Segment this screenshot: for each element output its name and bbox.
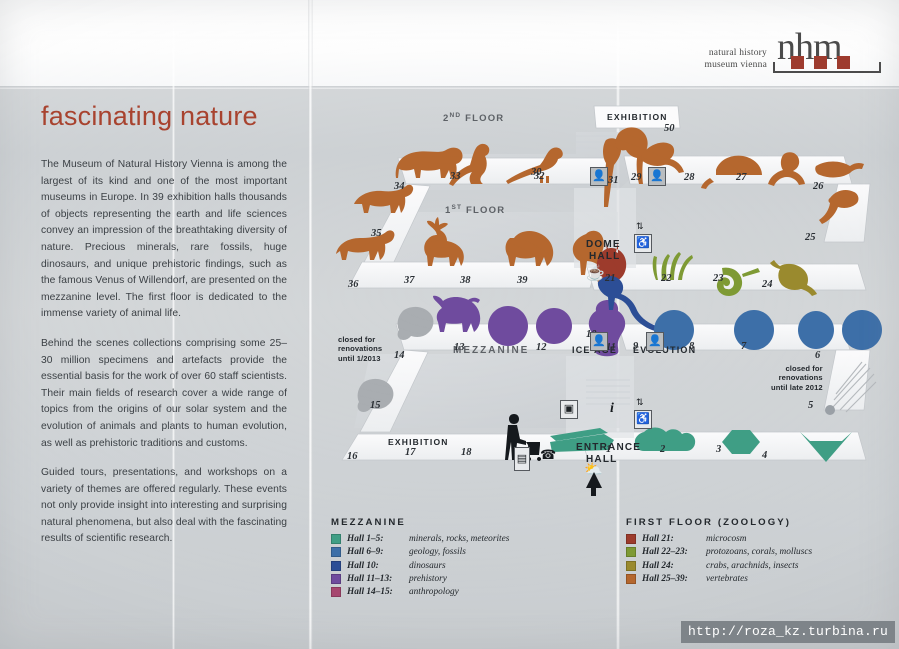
legend-swatch-mezz-3 [331,561,341,571]
hall-number-1: 1 [606,444,611,455]
info-icon[interactable]: i [610,402,614,416]
logo-line-1: natural history [705,48,768,60]
hall-number-32: 32 [534,171,545,182]
hall-number-27: 27 [736,172,747,183]
legend-swatch-ff-4 [626,574,636,584]
globe-icon [842,310,882,350]
legend-mezzanine: MEZZANINE Hall 1–5: minerals, rocks, met… [331,517,509,600]
legend-hall-label: Hall 25–39: [642,574,706,584]
hall-number-12: 12 [536,342,547,353]
legend-first-floor: FIRST FLOOR (ZOOLOGY) Hall 21: microcosm… [626,517,812,587]
legend-row: Hall 14–15: anthropology [331,587,509,597]
logo-square-3 [837,56,850,69]
intro-paragraph-1: The Museum of Natural History Vienna is … [41,157,287,323]
legend-row: Hall 11–13: prehistory [331,574,509,584]
hall-number-29: 29 [631,172,642,183]
wheelchair-icon-mezzanine[interactable]: ♿ [634,410,652,429]
legend-row: Hall 25–39: vertebrates [626,574,812,584]
spiral-disc-2-icon [536,308,572,344]
legend-row: Hall 6–9: geology, fossils [331,547,509,557]
hall-number-2: 2 [660,444,665,455]
hall-number-23: 23 [713,273,724,284]
hall-number-35: 35 [371,228,382,239]
legend-swatch-mezz-2 [331,547,341,557]
label-dome-hall-line1: DOME [586,239,621,250]
label-first-floor: 1ST FLOOR [445,204,505,216]
wheelchair-icon[interactable]: ♿ [634,234,652,253]
wc-women-icon-mezzanine[interactable]: 👤 [646,332,664,351]
label-dome-hall-line2: HALL [589,251,620,262]
legend-row: Hall 21: microcosm [626,534,812,544]
floor-plan-map: 2ND FLOOR 1ST FLOOR DOME HALL MEZZANINE … [318,92,886,502]
nhm-logo: natural history museum vienna nhm [705,30,882,78]
legend-hall-label: Hall 10: [347,561,409,571]
hall-number-33: 33 [450,171,461,182]
logo-mark: nhm [773,30,881,78]
logo-tick-left [773,62,775,73]
hall-number-13: 13 [454,342,465,353]
legend-hall-label: Hall 11–13: [347,574,409,584]
wc-men-icon[interactable]: 👤 [590,167,608,186]
legend-hall-desc: minerals, rocks, meteorites [409,534,509,544]
hall-number-7: 7 [741,341,746,352]
cafe-icon[interactable]: ☕ [586,266,605,281]
wing-36-39 [348,262,598,288]
page-title: fascinating nature [41,101,287,131]
wc-men-icon-mezzanine[interactable]: 👤 [590,332,608,351]
hall-number-3: 3 [716,444,721,455]
note-closed-left: closed for renovations until 1/2013 [338,335,382,363]
logo-square-2 [814,56,827,69]
legend-swatch-mezz-1 [331,534,341,544]
ammonite-icon [734,310,774,350]
legend-hall-desc: protozoans, corals, molluscs [706,547,812,557]
hall-number-36: 36 [348,279,359,290]
legend-swatch-ff-3 [626,561,636,571]
entrance-arrow-stem [591,486,596,496]
logo-squares [791,56,850,69]
note-right-line-2: renovations [771,373,823,382]
legend-hall-label: Hall 22–23: [642,547,706,557]
lift-icon[interactable]: ⇅ [636,222,644,231]
telephone-icon[interactable]: ☎ [540,448,556,461]
note-left-line-3: until 1/2013 [338,354,382,363]
legend-hall-desc: prehistory [409,574,447,584]
intro-text-column: fascinating nature The Museum of Natural… [41,101,287,561]
hall-number-28: 28 [684,172,695,183]
note-right-line-3: until late 2012 [771,383,823,392]
hall-number-39: 39 [517,275,528,286]
legend-hall-desc: crabs, arachnids, insects [706,561,798,571]
legend-hall-label: Hall 1–5: [347,534,409,544]
legend-first-floor-list: Hall 21: microcosm Hall 22–23: protozoan… [626,534,812,584]
label-exhibition-top: EXHIBITION [607,112,668,122]
legend-hall-desc: dinosaurs [409,561,446,571]
hall-number-5: 5 [808,400,813,411]
hall-number-18: 18 [461,447,472,458]
legend-hall-label: Hall 21: [642,534,706,544]
legend-hall-label: Hall 6–9: [347,547,409,557]
hall-number-4: 4 [762,450,767,461]
legend-hall-desc: microcosm [706,534,746,544]
source-watermark: http://roza_kz.turbina.ru [681,621,895,643]
note-right-line-1: closed for [771,364,823,373]
lift-icon-mezzanine[interactable]: ⇅ [636,398,644,407]
legend-first-floor-title: FIRST FLOOR (ZOOLOGY) [626,517,812,528]
hall-number-9: 9 [633,341,638,352]
legend-mezzanine-title: MEZZANINE [331,517,509,528]
legend-hall-label: Hall 24: [642,561,706,571]
brochure-page: natural history museum vienna nhm fascin… [0,0,899,649]
intro-paragraph-2: Behind the scenes collections comprising… [41,336,287,452]
hall-number-8: 8 [689,341,694,352]
spiral-disc-1-icon [488,306,528,346]
label-exhibition-bottom: EXHIBITION [388,437,449,447]
hall-number-24: 24 [762,279,773,290]
hall-number-21: 21 [605,273,616,284]
legend-swatch-ff-2 [626,547,636,557]
legend-swatch-mezz-4 [331,574,341,584]
legend-hall-label: Hall 14–15: [347,587,409,597]
hall-number-25: 25 [805,232,816,243]
legend-mezzanine-list: Hall 1–5: minerals, rocks, meteorites Ha… [331,534,509,597]
legend-hall-desc: vertebrates [706,574,748,584]
label-second-floor: 2ND FLOOR [443,112,504,124]
intro-paragraph-3: Guided tours, presentations, and worksho… [41,465,287,548]
wc-women-icon[interactable]: 👤 [648,167,666,186]
logo-line-2: museum vienna [705,60,768,72]
lizard-icon [815,162,864,178]
hall-number-14: 14 [394,350,405,361]
legend-row: Hall 10: dinosaurs [331,561,509,571]
hall-number-31: 31 [608,175,619,186]
hall-number-38: 38 [460,275,471,286]
logo-square-1 [791,56,804,69]
legend-hall-desc: anthropology [409,587,459,597]
hall-number-15: 15 [370,400,381,411]
hall-number-17: 17 [405,447,416,458]
note-closed-right: closed for renovations until late 2012 [771,364,823,392]
legend-row: Hall 1–5: minerals, rocks, meteorites [331,534,509,544]
hall-number-37: 37 [404,275,415,286]
logo-rule [773,71,879,73]
meteorite-icon [798,311,834,349]
note-left-line-2: renovations [338,344,382,353]
legend-swatch-ff-1 [626,534,636,544]
legend-row: Hall 22–23: protozoans, corals, molluscs [626,547,812,557]
label-evolution: EVOLUTION [633,345,696,355]
hall-number-34: 34 [394,181,405,192]
hall-number-50: 50 [664,123,675,134]
hall-number-26: 26 [813,181,824,192]
shop-icon[interactable]: ▣ [560,400,578,419]
hall-number-22: 22 [661,273,672,284]
hall-number-6: 6 [815,350,820,361]
entrance-hall-block [566,356,634,438]
logo-wordmark-text: natural history museum vienna [705,48,768,78]
logo-tick-right [879,62,881,73]
legend-row: Hall 24: crabs, arachnids, insects [626,561,812,571]
legend-swatch-mezz-5 [331,587,341,597]
lockers-icon[interactable]: ▤ [514,447,530,471]
legend-hall-desc: geology, fossils [409,547,466,557]
hall-number-16: 16 [347,451,358,462]
note-left-line-1: closed for [338,335,382,344]
